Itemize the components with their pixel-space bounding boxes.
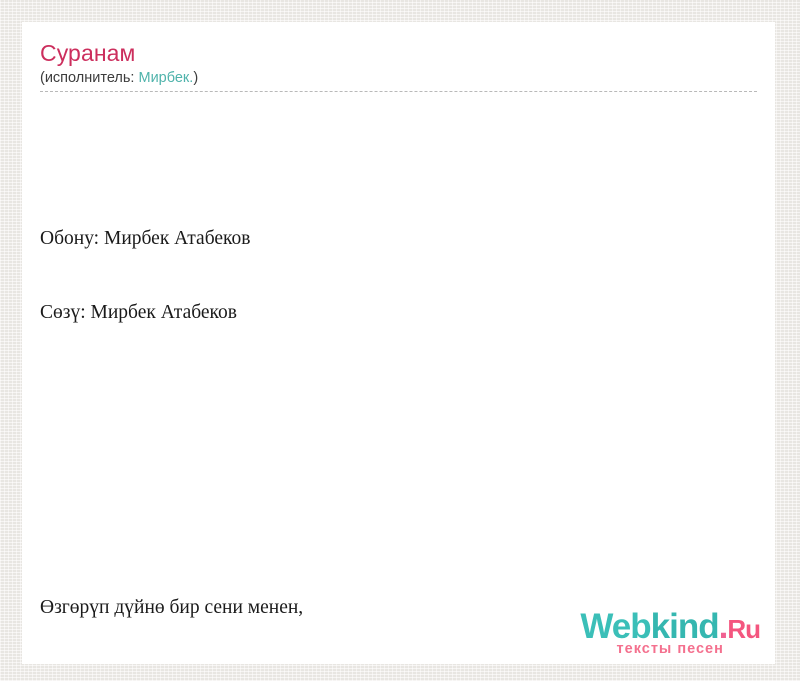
song-header: Суранам (исполнитель: Мирбек.) [22, 22, 775, 87]
stanza-spacer [40, 448, 775, 473]
lyrics-body: Обону: Мирбек Атабеков Сөзү: Мирбек Атаб… [22, 92, 775, 664]
performer-prefix-label: (исполнитель: [40, 70, 138, 86]
logo-ru-text: Ru [727, 614, 760, 644]
credit-line-words: Сөзү: Мирбек Атабеков [40, 301, 775, 326]
page-title: Суранам [40, 40, 775, 66]
logo-kind-text: kind [651, 607, 719, 646]
lyrics-card: Суранам (исполнитель: Мирбек.) Обону: Ми… [22, 22, 775, 664]
credit-line-music: Обону: Мирбек Атабеков [40, 227, 775, 252]
logo-web-text: Web [580, 607, 650, 646]
performer-line: (исполнитель: Мирбек.) [40, 69, 775, 87]
performer-link[interactable]: Мирбек. [138, 70, 193, 86]
site-logo[interactable]: Webkind.Ru тексты песен [580, 609, 760, 657]
performer-suffix-label: ) [193, 70, 198, 86]
credits-block: Обону: Мирбек Атабеков Сөзү: Мирбек Атаб… [40, 178, 775, 375]
